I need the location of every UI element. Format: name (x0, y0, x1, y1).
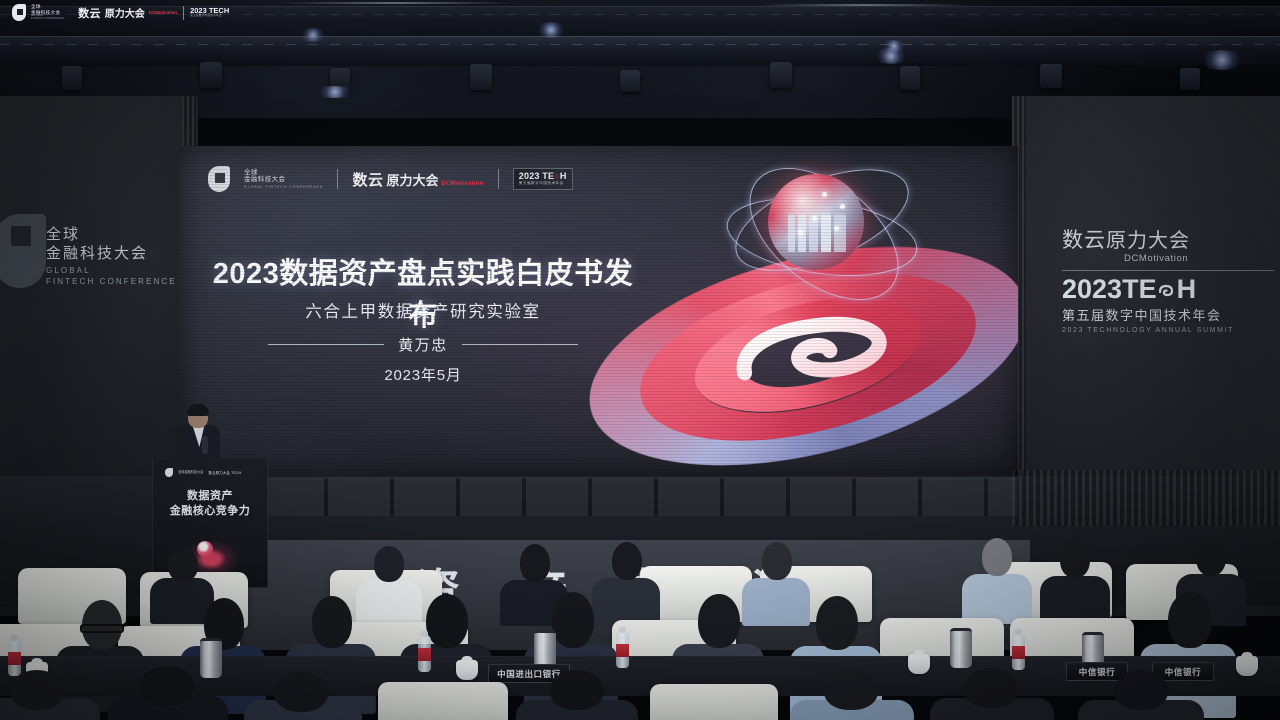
person-head (762, 542, 792, 580)
water-bottle (616, 632, 629, 668)
audience-person (516, 670, 638, 720)
left-wall-sign: 全球 金融科技大会 GLOBAL FINTECH CONFERENCE (6, 226, 182, 286)
eyeglasses-icon (80, 624, 124, 633)
left-sign-en-line1: GLOBAL (46, 266, 182, 275)
thermos-flask (950, 628, 972, 668)
stage-floor-panels (262, 478, 1018, 516)
right-sign-divider (1062, 270, 1274, 271)
slide-subtitle: 六合上甲数据资产研究实验室 (208, 298, 638, 322)
podium-title-line2: 金融核心竞争力 (153, 504, 267, 519)
person-head (426, 594, 468, 648)
audience-person (930, 668, 1054, 720)
bottle-cap (1015, 629, 1022, 635)
person-head (552, 592, 594, 648)
screen-logo-bar: 全球 金融科技大会 GLOBAL FINTECH CONFERENCE 数云 原… (208, 166, 573, 192)
spiral-graphic (580, 166, 1018, 476)
audience-person (0, 670, 100, 720)
right-sign-tech-post: H (1177, 274, 1197, 304)
right-wall-sign: 数云原力大会 DCMotivation 2023TE H 第五届数字中国技术年会… (1062, 230, 1274, 334)
water-bottle (418, 636, 431, 672)
audience-person (244, 672, 362, 720)
left-sign-en-line2: FINTECH CONFERENCE (46, 277, 182, 286)
person-head (374, 546, 404, 582)
watermark-divider (183, 6, 184, 20)
screen-sy-en: DCMotivation (442, 181, 484, 187)
gfc-logo-mark-icon (0, 214, 46, 288)
bottle-cap (619, 627, 626, 633)
screen-badge-sub: 第五届数字中国技术年会 (519, 182, 567, 186)
broadcast-watermark: 全球 金融科技大会 GLOBAL FINTECH CONFERENCE 数云 原… (12, 4, 229, 21)
watermark-sy-en: DCMotivation (149, 10, 177, 15)
right-sign-summit-cn: 第五届数字中国技术年会 (1062, 305, 1274, 324)
left-sign-cn-line1: 全球 (46, 226, 182, 245)
screen-logo-divider (337, 169, 338, 189)
person-head (312, 596, 352, 648)
watermark-summit-cn: 第五届数字中国技术年会 (190, 15, 229, 18)
gfc-logo-mark-icon (165, 468, 173, 477)
screen-badge-year-tail: H (560, 171, 567, 181)
sphere-node-dot (840, 204, 845, 209)
right-sign-tech-pre: TE (1122, 274, 1157, 304)
podium-logo-cn: 全球金融科技大会 (178, 471, 204, 475)
person-head (168, 548, 198, 582)
sphere-node-dot (834, 226, 839, 231)
lighting-truss-front (0, 36, 1280, 66)
person-head (10, 670, 64, 710)
person-head (816, 596, 858, 650)
person-head (520, 544, 550, 582)
sphere-node-dot (812, 216, 817, 221)
screen-logo-divider (498, 169, 499, 189)
slide-presenter-row: 黄万忠 (208, 334, 638, 355)
stage-light (1180, 68, 1200, 90)
person-body (962, 574, 1032, 624)
presenter-rule-right (462, 344, 578, 345)
screen-sy-cn: 数云 (352, 169, 383, 190)
person-head (550, 670, 604, 710)
watermark-sy-cn: 数云 (78, 5, 101, 21)
audience-person (1078, 670, 1204, 720)
right-wall-vent (1012, 470, 1280, 526)
presenter-rule-left (268, 344, 384, 345)
podium-title-line1: 数据资产 (153, 489, 267, 504)
watermark-sy-logo: 数云 原力大会 DCMotivation 2023 TECH 第五届数字中国技术… (78, 5, 229, 21)
audience-area: 中国进出口银行 中信银行 中信银行 (0, 520, 1280, 720)
stage-light (770, 62, 792, 88)
person-head (140, 666, 194, 706)
tea-cup (456, 660, 478, 680)
stage-light (200, 62, 222, 88)
podium-logo: 全球金融科技大会 数云原力大会 TECH (165, 468, 241, 477)
person-head (982, 538, 1012, 576)
person-head (964, 668, 1018, 708)
slide-presenter: 黄万忠 (398, 334, 448, 355)
audience-person (790, 670, 914, 720)
right-sign-year: 2023 (1062, 274, 1122, 304)
screen-gfc-cn2: 金融科技大会 (244, 176, 323, 183)
tea-cup (1236, 656, 1258, 676)
city-sphere-icon (768, 174, 864, 270)
person-head (1196, 538, 1226, 576)
watermark-gfc-logo: 全球 金融科技大会 GLOBAL FINTECH CONFERENCE (12, 4, 64, 21)
light-glow (300, 28, 326, 42)
gfc-logo-mark-icon (208, 166, 230, 192)
person-head (698, 594, 740, 648)
slide-date: 2023年5月 (208, 364, 638, 385)
right-sign-brand-cn2: 原力大会 (1106, 230, 1190, 252)
stage-light (900, 66, 920, 90)
sphere-node-dot (822, 192, 827, 197)
audience-person (1040, 540, 1110, 622)
audience-person (962, 538, 1032, 620)
gfc-logo-mark-icon (12, 4, 26, 21)
light-glow (536, 22, 566, 38)
screen-sy-cn2: 原力大会 (387, 170, 439, 189)
light-glow (1200, 50, 1244, 70)
person-head (612, 542, 642, 580)
water-bottle (1012, 634, 1025, 670)
screen-gfc-en: GLOBAL FINTECH CONFERENCE (244, 185, 323, 189)
person-head (1114, 670, 1168, 710)
watermark-gfc-en2: FINTECH CONFERENCE (31, 18, 64, 21)
ceiling-beam (760, 4, 970, 6)
bottle-cap (11, 635, 18, 641)
audience-person (108, 666, 228, 720)
bottle-cap (421, 631, 428, 637)
sphere-node-dot (798, 230, 803, 235)
right-sign-summit-en: 2023 TECHNOLOGY ANNUAL SUMMIT (1062, 327, 1274, 334)
microphone-icon (202, 436, 208, 454)
light-glow (882, 40, 906, 52)
left-sign-cn-line2: 金融科技大会 (46, 245, 182, 264)
seat (378, 682, 508, 720)
tech-swirl-icon (1157, 283, 1177, 300)
stage-light (62, 66, 82, 90)
screen-badge-year: 2023 TE (519, 171, 554, 181)
person-head (1168, 592, 1212, 648)
ceiling-beam (280, 2, 510, 4)
conference-stage-photo: 全球 金融科技大会 GLOBAL FINTECH CONFERENCE 数云原力… (0, 0, 1280, 720)
person-head (1060, 540, 1090, 578)
person-head (824, 670, 878, 710)
main-led-screen: 全球 金融科技大会 GLOBAL FINTECH CONFERENCE 数云 原… (180, 146, 1018, 476)
person-head (274, 672, 328, 712)
stage-light (470, 64, 492, 90)
right-sign-brand-cn: 数云 (1062, 229, 1106, 252)
watermark-sy-cn2: 原力大会 (105, 5, 145, 20)
seat (650, 684, 778, 720)
podium-logo-sub: 数云原力大会 TECH (209, 470, 242, 475)
speaker-hair (187, 404, 209, 416)
stage-light (1040, 64, 1062, 88)
screen-tech-badge: 2023 TE○H 第五届数字中国技术年会 (513, 168, 573, 190)
light-glow (316, 86, 354, 98)
stage-light (620, 70, 640, 92)
right-sign-brand-en: DCMotivation (1124, 253, 1274, 264)
